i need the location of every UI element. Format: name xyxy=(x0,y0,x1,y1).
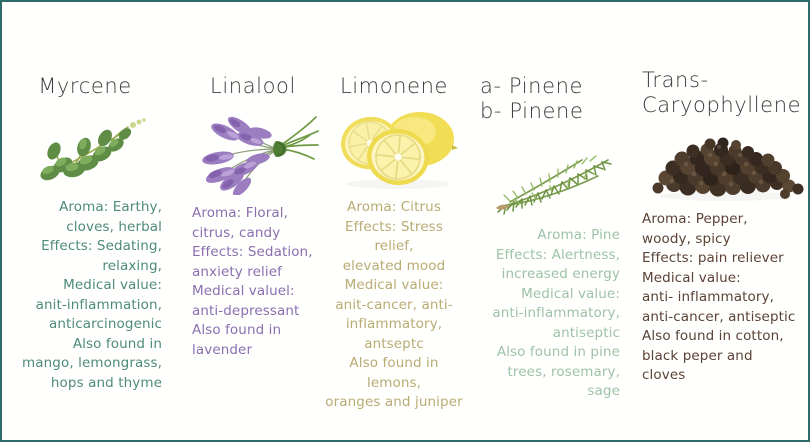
terpene-heading-limonene: Limonene xyxy=(324,74,464,99)
terpene-column-list: Myrcene xyxy=(2,2,808,440)
lavender-bouquet-image xyxy=(198,103,316,195)
terpene-infographic-poster: Myrcene xyxy=(0,0,810,442)
thyme-sprig-image xyxy=(32,107,168,189)
lemons-image xyxy=(336,105,464,189)
terpene-heading-caryophyllene: Trans- Caryophyllene xyxy=(640,68,802,118)
terpene-card-linalool: Linalool xyxy=(182,2,322,440)
terpene-card-limonene: Limonene xyxy=(322,2,470,440)
terpene-heading-linalool: Linalool xyxy=(190,74,316,99)
rosemary-sprig-image xyxy=(490,150,622,216)
terpene-body-pinene: Aroma: Pine Effects: Alertness, increase… xyxy=(474,226,622,402)
terpene-card-caryophyllene: Trans- Caryophyllene xyxy=(632,2,808,440)
terpene-heading-myrcene: Myrcene xyxy=(10,74,168,99)
terpene-body-limonene: Aroma: Citrus Effects: Stress relief, el… xyxy=(324,198,464,413)
terpene-card-pinene: a- Pinene b- Pinene xyxy=(470,2,632,440)
peppercorns-image xyxy=(648,132,802,202)
terpene-heading-pinene: a- Pinene b- Pinene xyxy=(474,74,622,124)
terpene-body-linalool: Aroma: Floral, citrus, candy Effects: Se… xyxy=(190,204,316,360)
terpene-body-caryophyllene: Aroma: Pepper, woody, spicy Effects: pai… xyxy=(640,210,802,386)
terpene-body-myrcene: Aroma: Earthy, cloves, herbal Effects: S… xyxy=(10,198,168,393)
terpene-card-myrcene: Myrcene xyxy=(2,2,182,440)
